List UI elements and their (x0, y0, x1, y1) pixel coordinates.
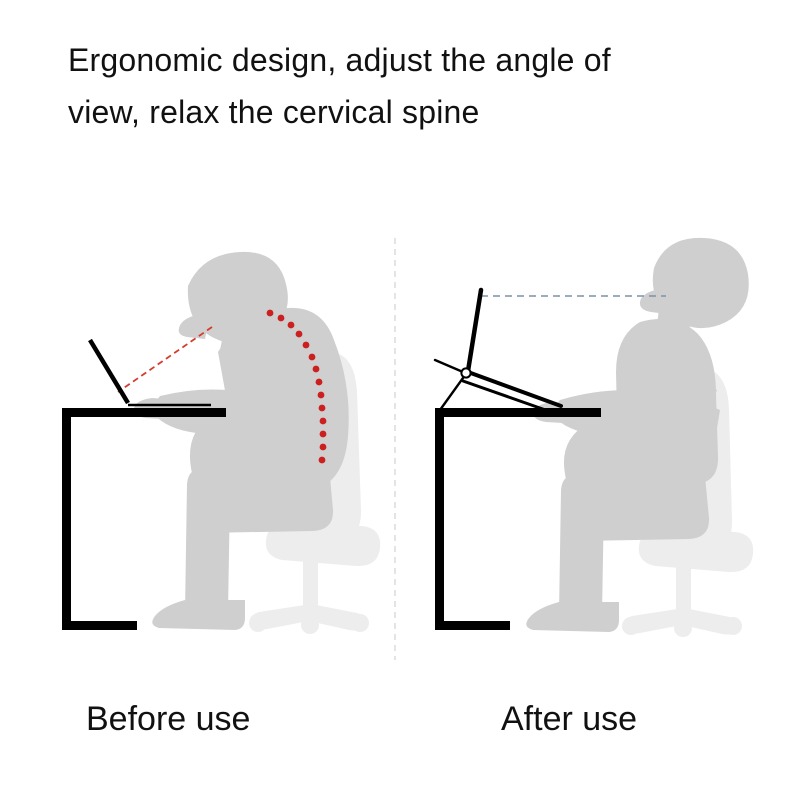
panel-after-use (435, 238, 753, 637)
posture-comparison-illustration (0, 0, 790, 790)
person-silhouette-after (526, 238, 749, 632)
caption-before-use: Before use (86, 700, 250, 739)
caption-after-use: After use (501, 700, 637, 739)
infographic-page: Ergonomic design, adjust the angle of vi… (0, 0, 790, 790)
panel-before-use (62, 252, 380, 634)
laptop-raised-after (435, 290, 561, 414)
stand-hinge-icon (461, 368, 470, 377)
